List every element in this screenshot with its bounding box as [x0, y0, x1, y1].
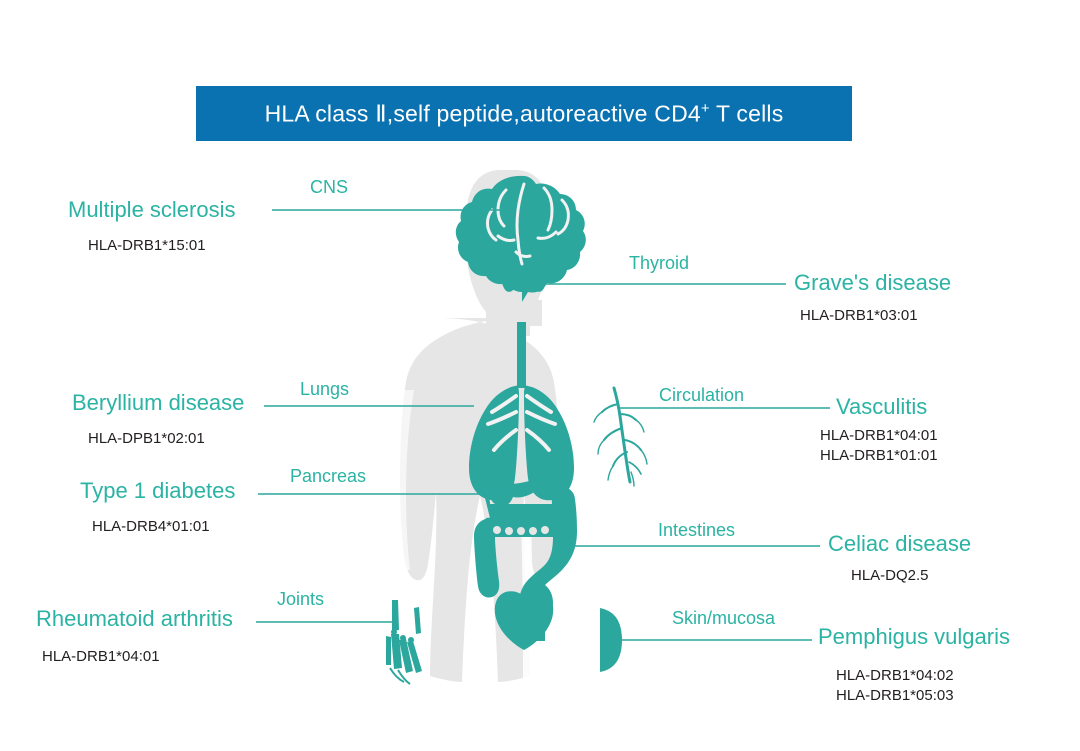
disease-label-celiac-disease: Celiac disease	[828, 532, 971, 555]
disease-label-multiple-sclerosis: Multiple sclerosis	[68, 198, 236, 221]
disease-label-vasculitis: Vasculitis	[836, 395, 927, 418]
allele-block-vasculitis: HLA-DRB1*04:01 HLA-DRB1*01:01	[820, 426, 938, 466]
disease-name-text: Beryllium disease	[72, 391, 244, 414]
disease-name-text: Pemphigus vulgaris	[818, 625, 1010, 648]
allele-block-beryllium-disease: HLA-DPB1*02:01	[88, 429, 205, 449]
allele-block-type-1-diabetes: HLA-DRB4*01:01	[92, 517, 210, 537]
organ-label-skin-mucosa: Skin/mucosa	[672, 608, 775, 629]
disease-name-text: Rheumatoid arthritis	[36, 607, 233, 630]
allele-text: HLA-DRB1*15:01	[88, 236, 206, 256]
allele-text: HLA-DRB1*05:03	[836, 686, 954, 706]
disease-label-graves-disease: Grave's disease	[794, 271, 951, 294]
allele-block-multiple-sclerosis: HLA-DRB1*15:01	[88, 236, 206, 256]
allele-block-celiac-disease: HLA-DQ2.5	[851, 566, 929, 586]
disease-name-text: Multiple sclerosis	[68, 198, 236, 221]
diagram-canvas: HLA class Ⅱ,self peptide,autoreactive CD…	[0, 0, 1080, 751]
disease-name-text: Type 1 diabetes	[80, 479, 235, 502]
allele-text: HLA-DRB1*01:01	[820, 446, 938, 466]
organ-label-pancreas: Pancreas	[290, 466, 366, 487]
organ-label-intestines: Intestines	[658, 520, 735, 541]
trachea-icon	[517, 322, 526, 388]
organ-label-thyroid: Thyroid	[629, 253, 689, 274]
allele-text: HLA-DRB1*04:02	[836, 666, 954, 686]
organ-label-circulation: Circulation	[659, 385, 744, 406]
disease-name-text: Vasculitis	[836, 395, 927, 418]
disease-label-beryllium-disease: Beryllium disease	[72, 391, 244, 414]
allele-block-pemphigus-vulgaris: HLA-DRB1*04:02 HLA-DRB1*05:03	[836, 666, 954, 706]
disease-name-text: Celiac disease	[828, 532, 971, 555]
allele-text: HLA-DRB1*04:01	[820, 426, 938, 446]
allele-text: HLA-DPB1*02:01	[88, 429, 205, 449]
allele-block-graves-disease: HLA-DRB1*03:01	[800, 306, 918, 326]
allele-text: HLA-DRB1*04:01	[42, 647, 160, 667]
allele-text: HLA-DRB4*01:01	[92, 517, 210, 537]
organ-label-joints: Joints	[277, 589, 324, 610]
disease-name-text: Grave's disease	[794, 271, 951, 294]
allele-text: HLA-DRB1*03:01	[800, 306, 918, 326]
organ-label-lungs: Lungs	[300, 379, 349, 400]
organ-label-cns: CNS	[310, 177, 348, 198]
disease-label-type-1-diabetes: Type 1 diabetes	[80, 479, 235, 502]
allele-text: HLA-DQ2.5	[851, 566, 929, 586]
disease-label-rheumatoid-arthritis: Rheumatoid arthritis	[36, 607, 233, 630]
allele-block-rheumatoid-arthritis: HLA-DRB1*04:01	[42, 647, 160, 667]
disease-label-pemphigus-vulgaris: Pemphigus vulgaris	[818, 625, 1010, 648]
hand-joints-icon	[386, 600, 422, 684]
